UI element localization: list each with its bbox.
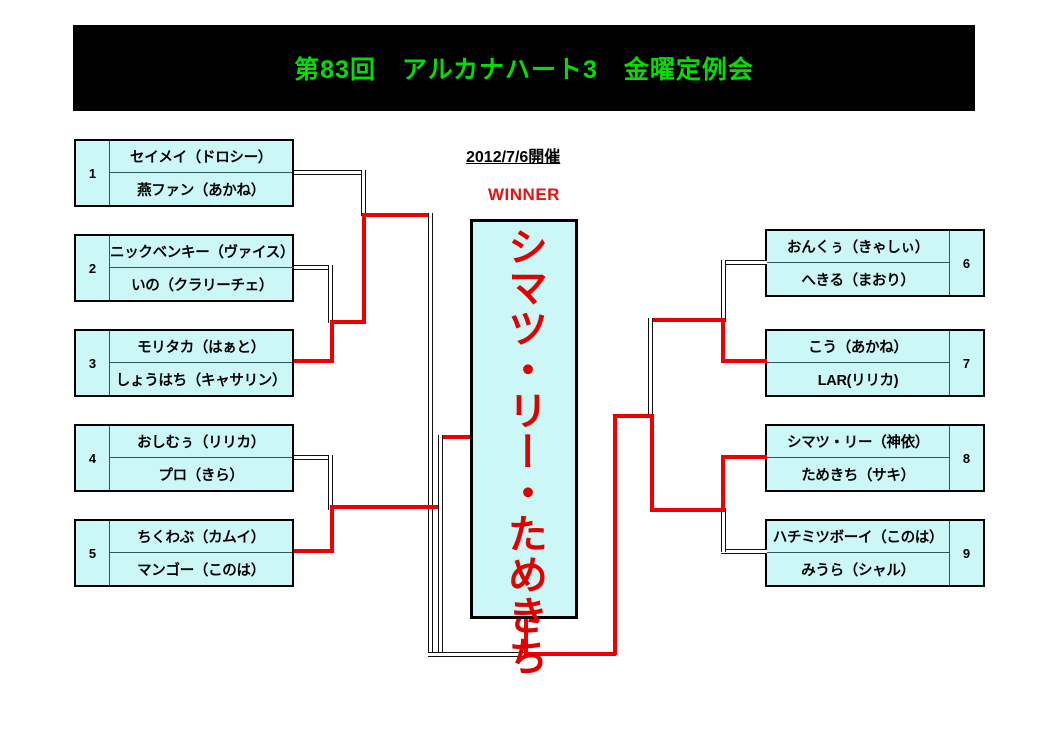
connector-line-match4 (294, 455, 332, 460)
player-name: ハチミツボーイ（このは） (767, 521, 949, 553)
match-number: 2 (76, 236, 109, 300)
title-banner: 第83回 アルカナハート3 金曜定例会 (73, 25, 975, 111)
match-box-6[interactable]: おんくぅ（きゃしぃ） へきる（まおり） 6 (765, 229, 985, 297)
connector-line-semi-upper-riser (362, 213, 366, 323)
page-title: 第83回 アルカナハート3 金曜定例会 (294, 50, 754, 86)
connector-line-quarter-upper (362, 213, 432, 217)
match-number: 7 (950, 331, 983, 395)
player-name: ためきち（サキ） (767, 458, 949, 490)
player-name: LAR(リリカ) (767, 363, 949, 395)
match-box-9[interactable]: ハチミツボーイ（このは） みうら（シャル） 9 (765, 519, 985, 587)
connector-line-match3-advance (294, 359, 334, 363)
event-date: 2012/7/6開催 (466, 143, 560, 167)
connector-line-match4-drop (328, 455, 333, 510)
match-players: モリタカ（はぁと） しょうはち（キャサリン） (109, 331, 292, 395)
connector-line-semi-upper-right (650, 318, 725, 322)
match-box-2[interactable]: 2 ニックベンキー（ヴァイス） いの（クラリーチェ） (74, 234, 294, 302)
connector-line-match5-advance (294, 549, 334, 553)
player-name: セイメイ（ドロシー） (110, 141, 292, 173)
connector-line-left-final-drop (438, 435, 443, 655)
connector-line-match3-riser (330, 320, 334, 362)
player-name: おしむぅ（リリカ） (110, 426, 292, 458)
connector-line-semi-lower-right (650, 508, 725, 512)
match-players: おしむぅ（リリカ） プロ（きら） (109, 426, 292, 490)
connector-line-match7-riser (721, 318, 725, 363)
match-number: 8 (950, 426, 983, 490)
player-name: 燕ファン（あかね） (110, 173, 292, 205)
connector-line-match8-drop (721, 455, 725, 513)
connector-line-upper-bracket-drop (428, 213, 433, 655)
match-box-7[interactable]: こう（あかね） LAR(リリカ) 7 (765, 329, 985, 397)
match-number: 5 (76, 521, 109, 585)
match-players: こう（あかね） LAR(リリカ) (767, 331, 950, 395)
match-players: ちくわぶ（カムイ） マンゴー（このは） (109, 521, 292, 585)
match-players: おんくぅ（きゃしぃ） へきる（まおり） (767, 231, 950, 295)
player-name: ニックベンキー（ヴァイス） (110, 236, 294, 268)
connector-line-match2 (294, 265, 332, 270)
connector-line-match1-drop (361, 170, 366, 216)
match-number: 4 (76, 426, 109, 490)
match-players: ハチミツボーイ（このは） みうら（シャル） (767, 521, 950, 585)
connector-line-semi-upper-right-drop (648, 318, 653, 418)
player-name: おんくぅ（きゃしぃ） (767, 231, 949, 263)
connector-line-match8-advance (723, 455, 767, 459)
winner-box: シマツ・リー・ためきち (470, 219, 578, 619)
match-number: 3 (76, 331, 109, 395)
winner-name: シマツ・リー・ためきち (504, 226, 544, 677)
connector-line-match9-riser (721, 508, 726, 552)
match-players: ニックベンキー（ヴァイス） いの（クラリーチェ） (109, 236, 294, 300)
connector-line-right-final-drop (613, 414, 617, 655)
player-name: モリタカ（はぁと） (110, 331, 292, 363)
connector-line-match7-advance (723, 359, 767, 363)
match-box-4[interactable]: 4 おしむぅ（リリカ） プロ（きら） (74, 424, 294, 492)
player-name: ちくわぶ（カムイ） (110, 521, 292, 553)
player-name: みうら（シャル） (767, 553, 949, 585)
connector-line-right-final (613, 414, 653, 418)
player-name: マンゴー（このは） (110, 553, 292, 585)
connector-line-semi-upper-left (330, 320, 366, 324)
connector-line-match6 (721, 260, 767, 265)
match-number: 1 (76, 141, 109, 205)
connector-line-match2-drop (328, 265, 333, 323)
connector-line-semi-lower-left (330, 505, 442, 509)
player-name: しょうはち（キャサリン） (110, 363, 292, 395)
match-box-8[interactable]: シマツ・リー（神依） ためきち（サキ） 8 (765, 424, 985, 492)
match-box-3[interactable]: 3 モリタカ（はぁと） しょうはち（キャサリン） (74, 329, 294, 397)
match-box-1[interactable]: 1 セイメイ（ドロシー） 燕ファン（あかね） (74, 139, 294, 207)
player-name: へきる（まおり） (767, 263, 949, 295)
player-name: いの（クラリーチェ） (110, 268, 294, 300)
connector-line-match6-drop (721, 260, 726, 322)
match-players: セイメイ（ドロシー） 燕ファン（あかね） (109, 141, 292, 205)
player-name: シマツ・リー（神依） (767, 426, 949, 458)
connector-line-match9 (721, 549, 767, 554)
connector-line-right-final-riser (650, 414, 654, 512)
match-box-5[interactable]: 5 ちくわぶ（カムイ） マンゴー（このは） (74, 519, 294, 587)
match-number: 9 (950, 521, 983, 585)
match-players: シマツ・リー（神依） ためきち（サキ） (767, 426, 950, 490)
match-number: 6 (950, 231, 983, 295)
winner-label: WINNER (470, 185, 578, 205)
player-name: プロ（きら） (110, 458, 292, 490)
connector-line-match1 (294, 170, 366, 175)
player-name: こう（あかね） (767, 331, 949, 363)
tournament-bracket-page: 第83回 アルカナハート3 金曜定例会 2012/7/6開催 WINNER 1 … (0, 0, 1053, 744)
connector-line-match5-riser (330, 505, 334, 553)
